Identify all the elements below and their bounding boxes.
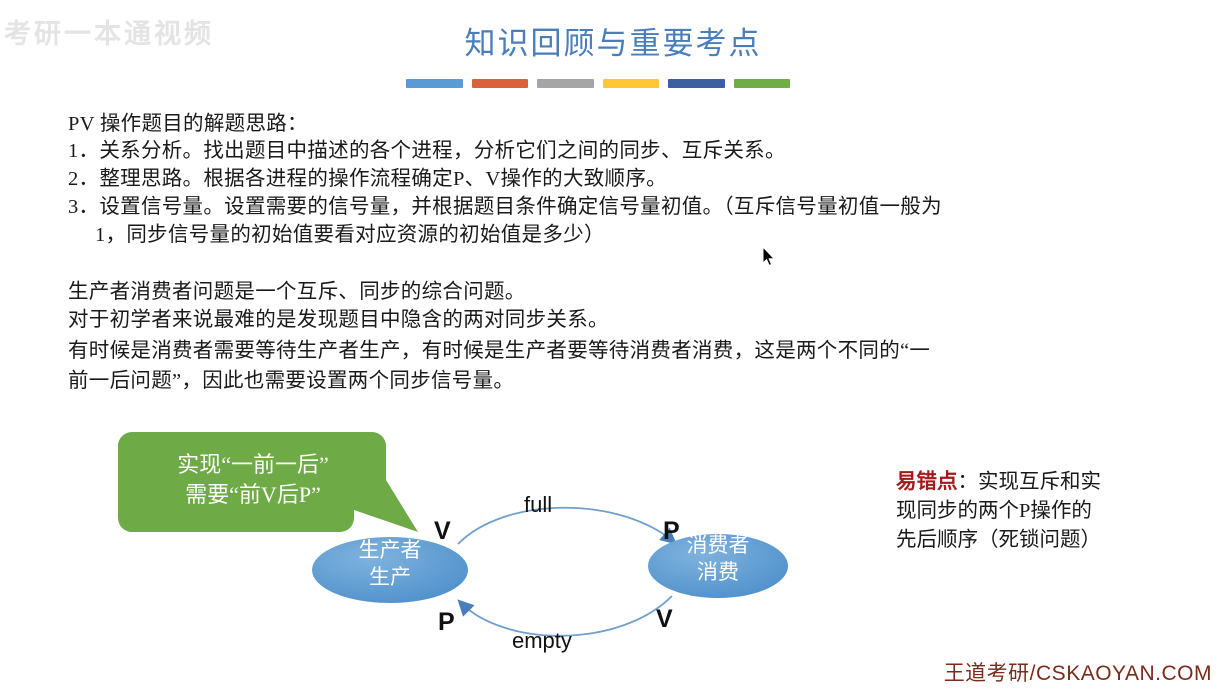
note-line-2: 现同步的两个P操作的 xyxy=(896,497,1136,526)
edge-label-full: full xyxy=(524,492,552,518)
title-bar-3 xyxy=(537,79,594,88)
note-emphasis: 易错点 xyxy=(896,471,958,493)
title-bar-1 xyxy=(406,79,463,88)
title-bar-6 xyxy=(734,79,791,88)
edge-full-arrow xyxy=(458,508,674,544)
title-bar-4 xyxy=(603,79,660,88)
note-line-3: 先后顺序（死锁问题） xyxy=(896,526,1136,555)
step-3-line-1: 3．设置信号量。设置需要的信号量，并根据题目条件确定信号量初值。（互斥信号量初值… xyxy=(68,189,942,219)
slide-canvas: 考研一本通视频 知识回顾与重要考点 PV 操作题目的解题思路： 1．关系分析。找… xyxy=(0,0,1226,695)
title-underline-bars xyxy=(406,79,790,88)
note-line-1: 易错点：实现互斥和实 xyxy=(896,468,1136,497)
title-bar-5 xyxy=(668,79,725,88)
brand-watermark: 王道考研/CSKAOYAN.COM xyxy=(944,657,1212,687)
step-1-line: 1．关系分析。找出题目中描述的各个进程，分析它们之间的同步、互斥关系。 xyxy=(68,133,786,163)
step-3-line-2: 1，同步信号量的初始值要看对应资源的初始值是多少） xyxy=(95,217,605,247)
op-label-v-consumer: V xyxy=(656,605,673,634)
paragraph-3-line-1: 有时候是消费者需要等待生产者生产，有时候是生产者要等待消费者消费，这是两个不同的… xyxy=(68,333,930,363)
op-label-v-producer: V xyxy=(434,517,451,546)
paragraph-2-line-2: 对于初学者来说最难的是发现题目中隐含的两对同步关系。 xyxy=(68,302,609,332)
mouse-cursor-icon xyxy=(762,246,776,267)
op-label-p-consumer: P xyxy=(663,517,680,546)
op-label-p-producer: P xyxy=(438,608,455,637)
paragraph-2-line-1: 生产者消费者问题是一个互斥、同步的综合问题。 xyxy=(68,274,526,304)
node-producer xyxy=(312,537,468,603)
note-line-1-rest: ：实现互斥和实 xyxy=(958,471,1102,493)
page-title: 知识回顾与重要考点 xyxy=(0,18,1226,63)
edge-label-empty: empty xyxy=(512,628,572,654)
intro-line: PV 操作题目的解题思路： xyxy=(68,106,308,136)
paragraph-3-line-2: 前一后问题”，因此也需要设置两个同步信号量。 xyxy=(68,363,514,393)
step-2-line: 2．整理思路。根据各进程的操作流程确定P、V操作的大致顺序。 xyxy=(68,161,667,191)
producer-consumer-cycle-diagram: 生产者 生产 消费者 消费 full empty V P P V xyxy=(300,480,810,665)
error-prone-note: 易错点：实现互斥和实 现同步的两个P操作的 先后顺序（死锁问题） xyxy=(896,468,1136,555)
title-bar-2 xyxy=(472,79,529,88)
